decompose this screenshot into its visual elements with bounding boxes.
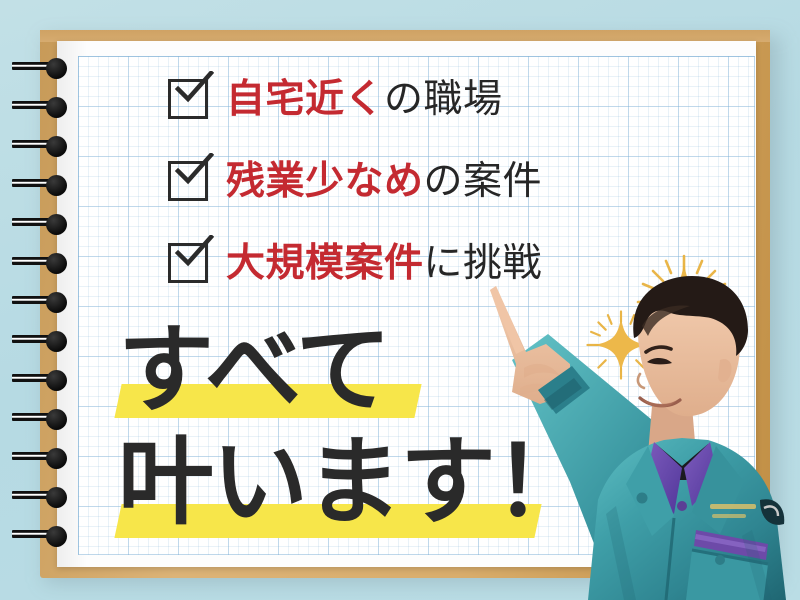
spiral-ring xyxy=(12,292,74,308)
spiral-ring xyxy=(12,214,74,230)
spiral-ring-knob xyxy=(46,97,67,118)
spiral-ring xyxy=(12,370,74,386)
poster-canvas: 自宅近くの職場 残業少なめの案件 大規模案件に挑戦 すべて xyxy=(0,0,800,600)
spiral-ring xyxy=(12,448,74,464)
spiral-ring xyxy=(12,331,74,347)
checkbox-checked-icon[interactable] xyxy=(168,243,208,283)
spiral-ring xyxy=(12,526,74,542)
spiral-ring xyxy=(12,487,74,503)
spiral-ring-knob xyxy=(46,487,67,508)
worker-button xyxy=(637,493,648,504)
check-mark-icon xyxy=(174,71,214,105)
spiral-ring-knob xyxy=(46,448,67,469)
spiral-ring xyxy=(12,58,74,74)
checkbox-checked-icon[interactable] xyxy=(168,161,208,201)
spiral-ring-knob xyxy=(46,292,67,313)
spiral-ring-knob xyxy=(46,175,67,196)
check-mark-icon xyxy=(174,153,214,187)
pointing-worker-photo xyxy=(420,268,800,600)
slogan-text-1: すべて xyxy=(118,314,389,426)
checklist-item-highlight: 自宅近く xyxy=(226,77,384,122)
checklist-item-text: 残業少なめの案件 xyxy=(226,162,542,201)
spiral-ring-knob xyxy=(46,58,67,79)
checklist-item-rest: の職場 xyxy=(384,77,503,122)
spiral-ring xyxy=(12,136,74,152)
worker-button xyxy=(715,555,725,565)
spiral-ring xyxy=(12,97,74,113)
checklist-item-highlight: 残業少なめ xyxy=(226,159,424,204)
checklist-item[interactable]: 残業少なめの案件 xyxy=(168,140,688,222)
spiral-ring-knob xyxy=(46,136,67,157)
spiral-ring-knob xyxy=(46,253,67,274)
spiral-ring-knob xyxy=(46,409,67,430)
worker-button xyxy=(677,501,687,511)
spiral-ring-knob xyxy=(46,214,67,235)
checklist-item[interactable]: 自宅近くの職場 xyxy=(168,58,688,140)
spiral-ring xyxy=(12,253,74,269)
checklist-item-rest: の案件 xyxy=(424,159,543,204)
spiral-ring-knob xyxy=(46,370,67,391)
checklist-item-text: 自宅近くの職場 xyxy=(226,80,503,119)
spiral-ring-knob xyxy=(46,526,67,547)
check-mark-icon xyxy=(174,235,214,269)
spiral-ring-knob xyxy=(46,331,67,352)
checklist-item-highlight: 大規模案件 xyxy=(226,241,424,286)
spiral-binding xyxy=(0,0,120,600)
spiral-ring xyxy=(12,409,74,425)
checkbox-checked-icon[interactable] xyxy=(168,79,208,119)
spiral-ring xyxy=(12,175,74,191)
worker-head xyxy=(633,276,748,416)
